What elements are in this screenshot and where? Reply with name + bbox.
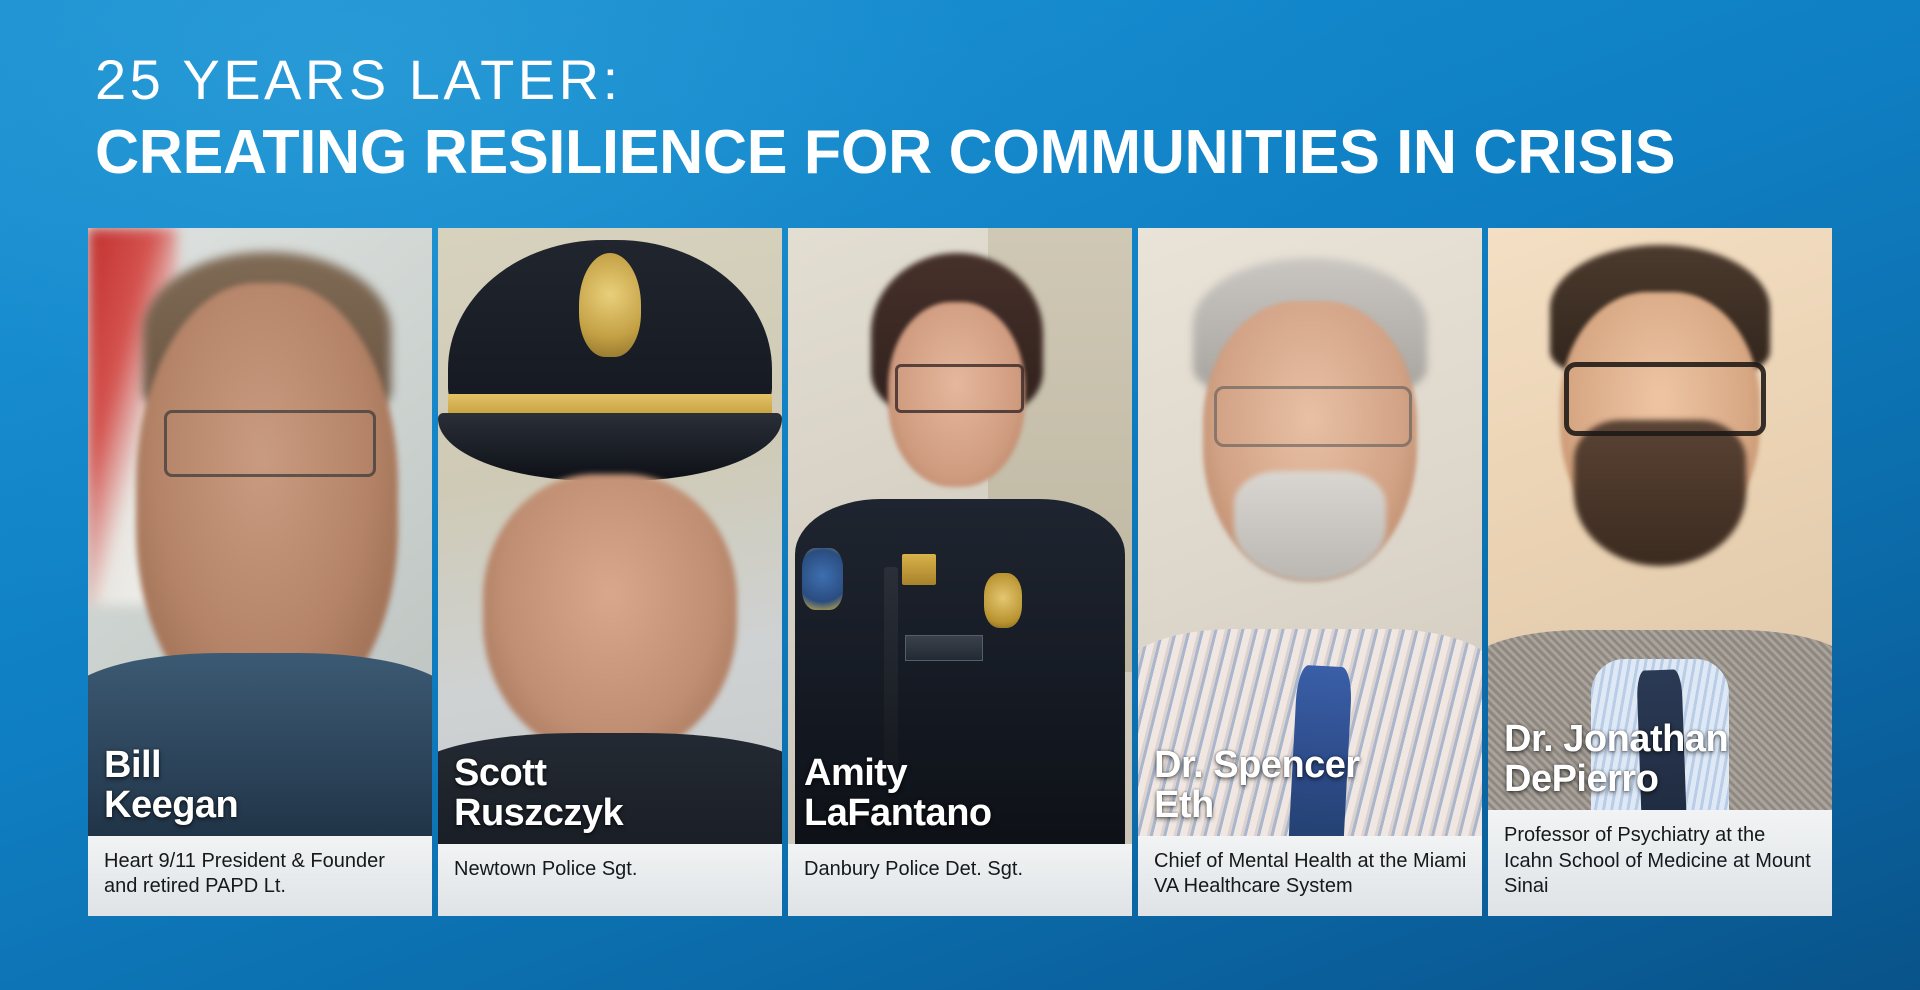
speaker-photo-spencer-eth: Dr. Spencer Eth [1138,228,1482,836]
headline-eyebrow: 25 YEARS LATER: [95,52,1699,108]
speaker-name-line-1: Dr. Spencer [1154,746,1474,786]
speaker-name-jonathan-depierro: Dr. Jonathan DePierro [1504,720,1824,800]
headline-block: 25 YEARS LATER: CREATING RESILIENCE FOR … [95,52,1699,184]
speaker-name-spencer-eth: Dr. Spencer Eth [1154,746,1474,826]
speaker-name-line-1: Bill [104,746,424,786]
speaker-panel-strip: Bill Keegan Heart 9/11 President & Found… [88,228,1832,916]
poster-root: 25 YEARS LATER: CREATING RESILIENCE FOR … [0,0,1920,990]
speaker-card-bill-keegan[interactable]: Bill Keegan Heart 9/11 President & Found… [88,228,432,916]
speaker-caption-spencer-eth: Chief of Mental Health at the Miami VA H… [1138,836,1482,916]
speaker-name-amity-lafantano: Amity LaFantano [804,754,1124,834]
speaker-name-line-1: Scott [454,754,774,794]
speaker-photo-scott-ruszczyk: Scott Ruszczyk [438,228,782,844]
speaker-caption-scott-ruszczyk: Newtown Police Sgt. [438,844,782,916]
speaker-name-line-2: Eth [1154,786,1474,826]
speaker-card-jonathan-depierro[interactable]: Dr. Jonathan DePierro Professor of Psych… [1488,228,1832,916]
speaker-name-line-1: Amity [804,754,1124,794]
speaker-name-line-2: Keegan [104,786,424,826]
speaker-name-line-2: LaFantano [804,794,1124,834]
speaker-name-line-1: Dr. Jonathan [1504,720,1824,760]
speaker-name-line-2: DePierro [1504,760,1824,800]
speaker-name-bill-keegan: Bill Keegan [104,746,424,826]
speaker-card-spencer-eth[interactable]: Dr. Spencer Eth Chief of Mental Health a… [1138,228,1482,916]
speaker-card-scott-ruszczyk[interactable]: Scott Ruszczyk Newtown Police Sgt. [438,228,782,916]
speaker-caption-jonathan-depierro: Professor of Psychiatry at the Icahn Sch… [1488,810,1832,916]
speaker-caption-amity-lafantano: Danbury Police Det. Sgt. [788,844,1132,916]
speaker-card-amity-lafantano[interactable]: Amity LaFantano Danbury Police Det. Sgt. [788,228,1132,916]
speaker-name-scott-ruszczyk: Scott Ruszczyk [454,754,774,834]
speaker-caption-bill-keegan: Heart 9/11 President & Founder and retir… [88,836,432,916]
speaker-photo-jonathan-depierro: Dr. Jonathan DePierro [1488,228,1832,810]
speaker-name-line-2: Ruszczyk [454,794,774,834]
headline-title: CREATING RESILIENCE FOR COMMUNITIES IN C… [95,122,1675,184]
speaker-photo-amity-lafantano: Amity LaFantano [788,228,1132,844]
speaker-photo-bill-keegan: Bill Keegan [88,228,432,836]
